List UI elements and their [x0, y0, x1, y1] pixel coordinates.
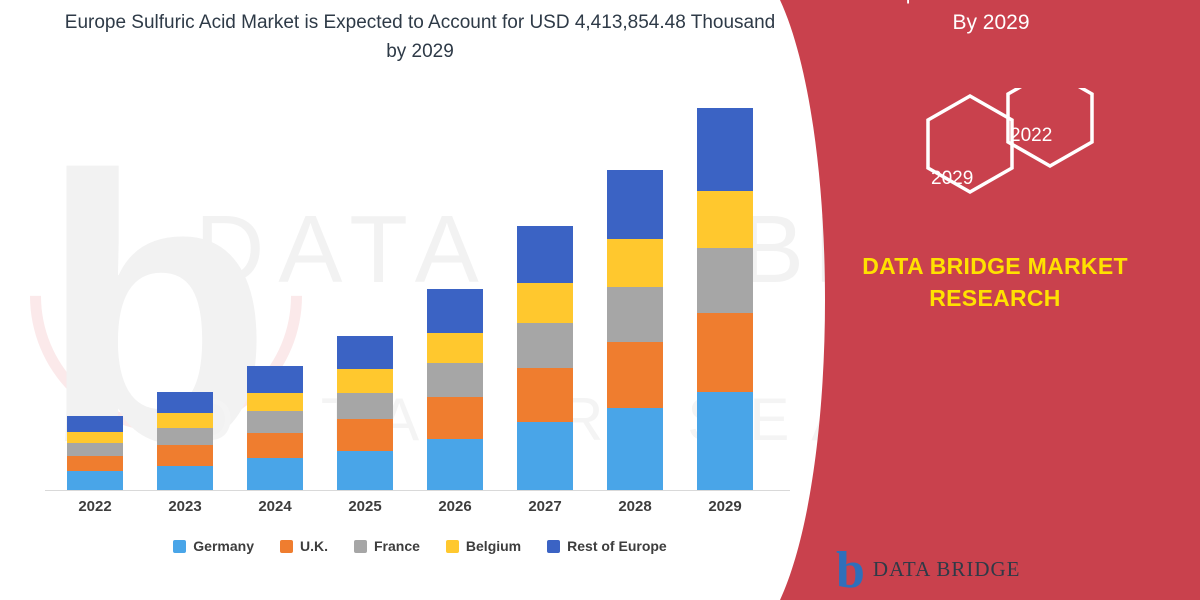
brand-line2: RESEARCH [810, 282, 1180, 314]
bar-segment [427, 363, 483, 398]
x-tick-label: 2029 [680, 498, 770, 515]
bar-segment [427, 439, 483, 490]
legend-label: Belgium [466, 538, 521, 554]
logo-mark-icon: b [836, 548, 865, 594]
bar-segment [697, 313, 753, 392]
legend-item[interactable]: Germany [173, 538, 254, 554]
bar-segment [337, 451, 393, 490]
bar-group-2024 [247, 366, 303, 490]
bar-segment [607, 342, 663, 407]
bar-group-2027 [517, 226, 573, 490]
bar-segment [607, 170, 663, 239]
panel-title-line2: By 2029 [816, 8, 1166, 38]
logo-text: DATA BRIDGE [873, 557, 1021, 586]
legend-label: U.K. [300, 538, 328, 554]
brand-name: DATA BRIDGE MARKET RESEARCH [810, 250, 1180, 314]
bar-segment [517, 323, 573, 368]
hexagon-icons [890, 88, 1190, 228]
legend-item[interactable]: Rest of Europe [547, 538, 667, 554]
bar-segment [247, 393, 303, 412]
bar-segment [157, 466, 213, 490]
legend-item[interactable]: France [354, 538, 420, 554]
legend-swatch-icon [446, 540, 459, 553]
bar-segment [247, 411, 303, 433]
chart-legend: GermanyU.K.FranceBelgiumRest of Europe [60, 538, 780, 554]
bar-segment [157, 392, 213, 414]
hex-label-2022: 2022 [1010, 125, 1052, 147]
x-axis-labels: 20222023202420252026202720282029 [45, 498, 790, 526]
bar-segment [67, 416, 123, 432]
bar-group-2023 [157, 392, 213, 490]
bar-segment [337, 419, 393, 451]
bar-segment [157, 413, 213, 428]
legend-swatch-icon [547, 540, 560, 553]
legend-swatch-icon [280, 540, 293, 553]
bar-segment [697, 108, 753, 191]
bar-group-2028 [607, 170, 663, 490]
bar-segment [157, 445, 213, 466]
bar-segment [67, 443, 123, 456]
x-tick-label: 2023 [140, 498, 230, 515]
x-tick-label: 2027 [500, 498, 590, 515]
panel-title-line1: Europe Sulfuric Acid Market [816, 0, 1166, 8]
bar-segment [517, 283, 573, 322]
brand-line1: DATA BRIDGE MARKET [810, 250, 1180, 282]
bar-segment [247, 458, 303, 490]
legend-label: Germany [193, 538, 254, 554]
hex-label-2029: 2029 [931, 168, 973, 190]
legend-label: France [374, 538, 420, 554]
hexagon-group: 2029 2022 [890, 88, 1190, 228]
bar-segment [337, 369, 393, 392]
right-info-panel: Europe Sulfuric Acid Market By 2029 2029… [780, 0, 1200, 600]
bar-group-2029 [697, 108, 753, 490]
bar-segment [337, 393, 393, 419]
bar-segment [607, 287, 663, 342]
bar-group-2025 [337, 336, 393, 490]
bar-segment [517, 368, 573, 422]
bar-segment [67, 471, 123, 490]
bar-segment [427, 289, 483, 333]
bar-segment [427, 397, 483, 438]
x-tick-label: 2025 [320, 498, 410, 515]
legend-label: Rest of Europe [567, 538, 667, 554]
bar-segment [607, 239, 663, 287]
x-tick-label: 2024 [230, 498, 320, 515]
bar-segment [67, 432, 123, 443]
dbmr-logo: b DATA BRIDGE [836, 548, 1021, 594]
bar-segment [697, 191, 753, 248]
bar-segment [247, 433, 303, 458]
legend-item[interactable]: Belgium [446, 538, 521, 554]
bar-segment [247, 366, 303, 393]
bar-segment [337, 336, 393, 370]
x-tick-label: 2028 [590, 498, 680, 515]
legend-swatch-icon [354, 540, 367, 553]
bar-segment [607, 408, 663, 490]
stacked-bar-chart [45, 100, 790, 490]
bar-segment [67, 456, 123, 471]
bar-segment [517, 422, 573, 490]
bar-group-2022 [67, 416, 123, 490]
x-tick-label: 2026 [410, 498, 500, 515]
panel-title: Europe Sulfuric Acid Market By 2029 [816, 0, 1166, 38]
bar-group-2026 [427, 289, 483, 490]
bar-segment [517, 226, 573, 283]
x-axis-line [45, 490, 790, 491]
bar-segment [427, 333, 483, 363]
legend-item[interactable]: U.K. [280, 538, 328, 554]
bar-segment [157, 428, 213, 445]
bar-segment [697, 392, 753, 490]
x-tick-label: 2022 [50, 498, 140, 515]
legend-swatch-icon [173, 540, 186, 553]
page-title: Europe Sulfuric Acid Market is Expected … [60, 8, 780, 66]
bar-segment [697, 248, 753, 313]
